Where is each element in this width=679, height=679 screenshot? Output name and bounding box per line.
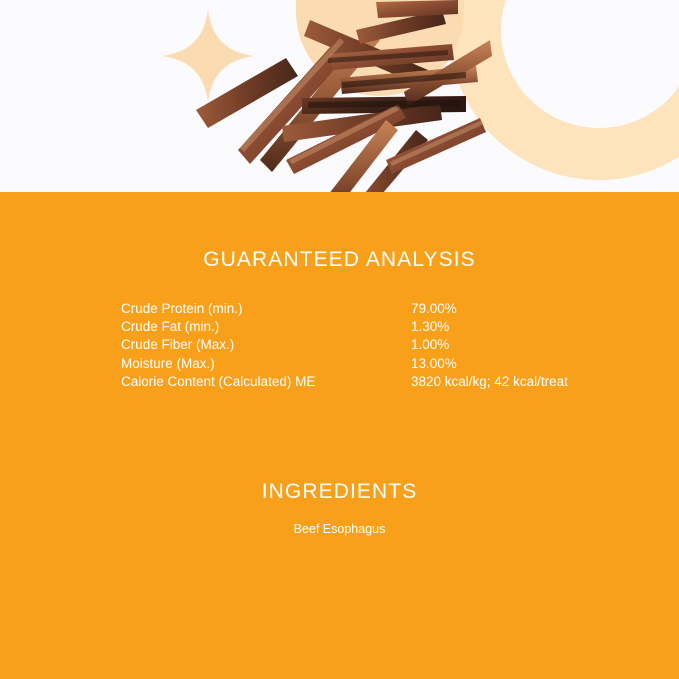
row-value: 3820 kcal/kg; 42 kcal/treat bbox=[411, 373, 641, 391]
guaranteed-analysis-title: GUARANTEED ANALYSIS bbox=[0, 248, 679, 272]
table-row: Moisture (Max.) 13.00% bbox=[121, 355, 641, 373]
row-value: 79.00% bbox=[411, 300, 641, 318]
product-detail-image: GUARANTEED ANALYSIS Crude Protein (min.)… bbox=[0, 0, 679, 679]
row-value: 1.00% bbox=[411, 336, 641, 354]
nutrition-panel: GUARANTEED ANALYSIS Crude Protein (min.)… bbox=[0, 192, 679, 679]
table-row: Crude Fiber (Max.) 1.00% bbox=[121, 336, 641, 354]
row-label: Crude Protein (min.) bbox=[121, 300, 411, 318]
row-label: Calorie Content (Calculated) ME bbox=[121, 373, 411, 391]
table-row: Calorie Content (Calculated) ME 3820 kca… bbox=[121, 373, 641, 391]
row-label: Crude Fiber (Max.) bbox=[121, 336, 411, 354]
guaranteed-analysis-table: Crude Protein (min.) 79.00% Crude Fat (m… bbox=[121, 300, 641, 391]
row-value: 13.00% bbox=[411, 355, 641, 373]
ingredients-title: INGREDIENTS bbox=[0, 480, 679, 504]
beef-esophagus-sticks-photo bbox=[190, 0, 492, 192]
row-label: Crude Fat (min.) bbox=[121, 318, 411, 336]
ingredients-text: Beef Esophagus bbox=[0, 522, 679, 536]
table-row: Crude Fat (min.) 1.30% bbox=[121, 318, 641, 336]
row-label: Moisture (Max.) bbox=[121, 355, 411, 373]
table-row: Crude Protein (min.) 79.00% bbox=[121, 300, 641, 318]
row-value: 1.30% bbox=[411, 318, 641, 336]
hero-area bbox=[0, 0, 679, 192]
